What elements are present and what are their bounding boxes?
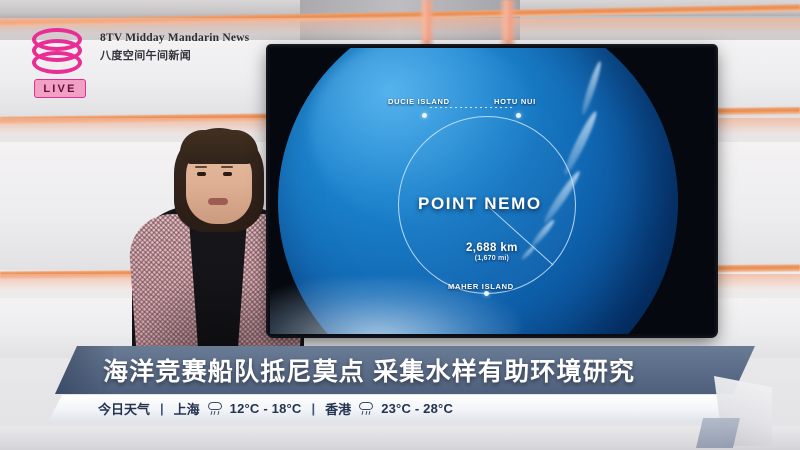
weather-temp-hongkong: 23°C - 28°C (381, 401, 453, 416)
distance-mi: (1,670 mi) (466, 255, 518, 262)
headline-text: 海洋竞赛船队抵尼莫点 采集水样有助环境研究 (103, 352, 635, 388)
live-badge: LIVE (34, 79, 86, 98)
weather-separator-2: | (309, 401, 319, 416)
broadcast-frame: DUCIE ISLAND HOTU NUI MAHER ISLAND POINT… (0, 0, 800, 450)
weather-temp-shanghai: 12°C - 18°C (230, 401, 302, 416)
channel-bug: LIVE 8TV Midday Mandarin News 八度空间午间新闻 (26, 26, 288, 102)
anchor-brow-left (195, 166, 207, 168)
anchor-eye-left (197, 172, 206, 176)
weather-city-hongkong: 香港 (325, 399, 351, 418)
weather-ticker-content: 今日天气 | 上海 12°C - 18°C | 香港 23°C - 28°C (98, 399, 453, 418)
logo-ring-bottom (32, 51, 82, 74)
anchor-eye-right (223, 172, 232, 176)
map-label-ducie-island: DUCIE ISLAND (388, 97, 450, 106)
map-title-point-nemo: POINT NEMO (418, 194, 542, 214)
channel-8-logo-icon (26, 26, 88, 78)
anchor-brow-right (221, 166, 233, 168)
weather-ticker-label: 今日天气 (98, 399, 150, 418)
anchor-mouth (208, 198, 228, 205)
lower-third: 海洋竞赛船队抵尼莫点 采集水样有助环境研究 今日天气 | 上海 12°C - 1… (0, 342, 800, 450)
program-title-zh: 八度空间午间新闻 (100, 47, 249, 63)
headline-banner: 海洋竞赛船队抵尼莫点 采集水样有助环境研究 (55, 346, 755, 394)
weather-separator-1: | (157, 401, 167, 416)
map-dot-maher-island (484, 291, 489, 296)
live-badge-label: LIVE (43, 83, 76, 95)
rain-cloud-icon (358, 402, 374, 415)
anchor-fringe (180, 130, 258, 164)
screen-content: DUCIE ISLAND HOTU NUI MAHER ISLAND POINT… (270, 48, 714, 334)
program-title-block: 8TV Midday Mandarin News 八度空间午间新闻 (100, 32, 249, 63)
weather-city-shanghai: 上海 (174, 399, 200, 418)
map-dot-ducie-island (422, 113, 427, 118)
studio-display-screen: DUCIE ISLAND HOTU NUI MAHER ISLAND POINT… (268, 46, 716, 336)
map-label-hotu-nui: HOTU NUI (494, 97, 536, 106)
rain-cloud-icon (207, 402, 223, 415)
map-label-maher-island: MAHER ISLAND (448, 282, 514, 291)
banner-wedge-decoration-2 (696, 418, 740, 448)
island-connector-line (430, 107, 514, 108)
distance-annotation: 2,688 km (1,670 mi) (466, 242, 518, 262)
distance-km: 2,688 km (466, 242, 518, 254)
program-title-en: 8TV Midday Mandarin News (100, 32, 249, 44)
weather-ticker: 今日天气 | 上海 12°C - 18°C | 香港 23°C - 28°C (48, 395, 748, 422)
map-dot-hotu-nui (516, 113, 521, 118)
